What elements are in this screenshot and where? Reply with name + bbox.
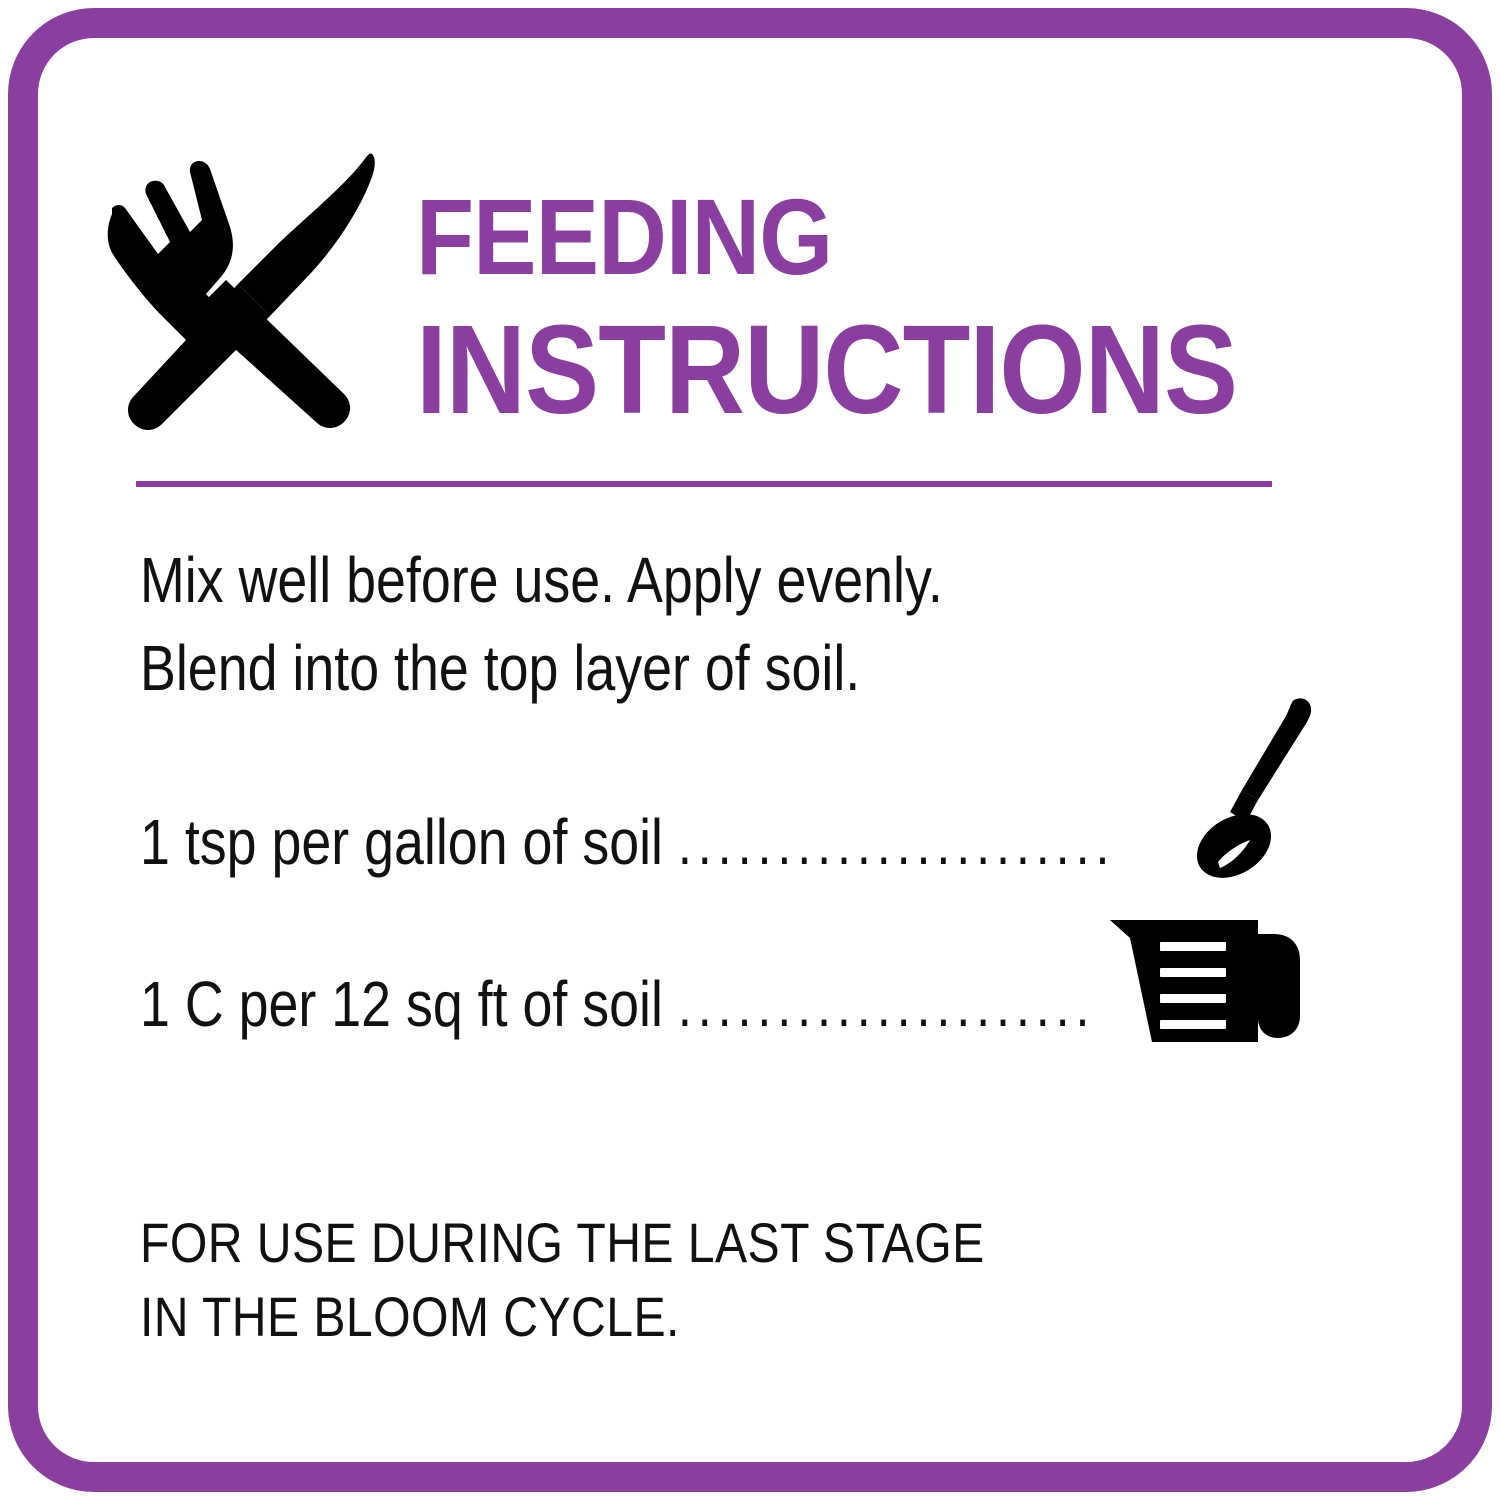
spoon-icon — [1186, 694, 1326, 894]
dosage-label-0: 1 tsp per gallon of soil — [140, 806, 678, 878]
footer-line-2: IN THE BLOOM CYCLE. — [140, 1280, 1172, 1354]
feeding-instructions-label: FEEDING INSTRUCTIONS Mix well before use… — [0, 0, 1500, 1500]
dosage-text-0: 1 tsp per gallon of soil ...............… — [140, 800, 1115, 886]
dosage-leader-0: ...................... — [678, 810, 1115, 877]
heading-block: FEEDING INSTRUCTIONS — [416, 126, 1316, 434]
dosage-row: 1 tsp per gallon of soil ...............… — [140, 800, 1340, 910]
dosage-label-1: 1 C per 12 sq ft of soil — [140, 968, 678, 1040]
page-title-line-2: INSTRUCTIONS — [416, 306, 1208, 434]
measuring-cup-icon — [1108, 912, 1308, 1052]
instruction-line-2: Blend into the top layer of soil. — [140, 624, 1148, 712]
dosage-text-1: 1 C per 12 sq ft of soil ...............… — [140, 962, 1095, 1048]
footer-text-block: FOR USE DURING THE LAST STAGE IN THE BLO… — [140, 1206, 1340, 1354]
instruction-line-1: Mix well before use. Apply evenly. — [140, 536, 1148, 624]
instructions-text-block: Mix well before use. Apply evenly. Blend… — [140, 536, 1340, 712]
fork-and-knife-icon — [88, 140, 388, 440]
label-header: FEEDING INSTRUCTIONS — [88, 132, 1288, 452]
footer-line-1: FOR USE DURING THE LAST STAGE — [140, 1206, 1172, 1280]
page-title-line-1: FEEDING — [416, 182, 1208, 292]
dosage-leader-1: ..................... — [678, 972, 1096, 1039]
header-divider-rule — [136, 481, 1272, 487]
